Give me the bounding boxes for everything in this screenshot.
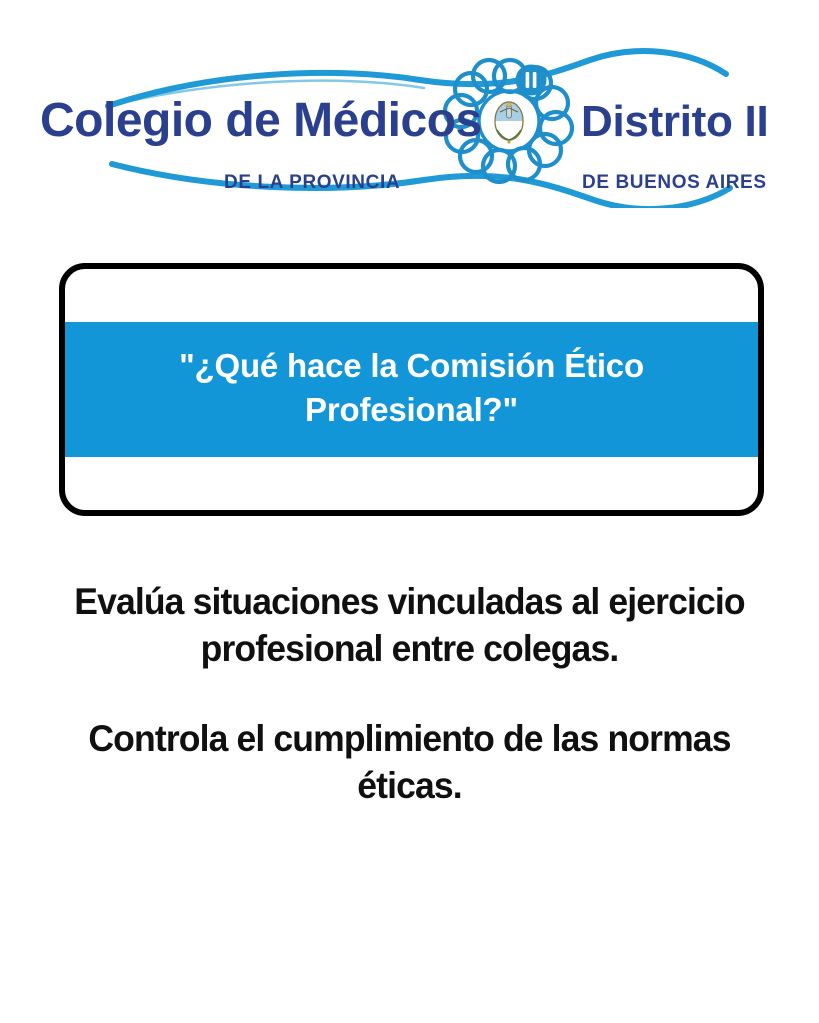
logo-header: Colegio de Médicos Distrito II DE LA PRO… — [0, 38, 819, 208]
body-paragraph-1: Evalúa situaciones vinculadas al ejercic… — [64, 578, 754, 673]
question-card: "¿Qué hace la Comisión Ético Profesional… — [59, 263, 764, 516]
logo-subtitle-right: DE BUENOS AIRES — [582, 172, 767, 193]
body-paragraph-2: Controla el cumplimiento de las normas é… — [64, 715, 754, 810]
logo-subtitle-left: DE LA PROVINCIA — [224, 172, 400, 193]
logo-graphic: Colegio de Médicos Distrito II DE LA PRO… — [0, 38, 819, 208]
body-copy: Evalúa situaciones vinculadas al ejercic… — [50, 578, 769, 809]
logo-title-left: Colegio de Médicos — [40, 94, 482, 147]
emblem-badge-ii — [516, 65, 547, 96]
question-band: "¿Qué hace la Comisión Ético Profesional… — [65, 322, 758, 457]
logo-title-right: Distrito II — [581, 97, 768, 146]
coat-of-arms-icon — [495, 102, 523, 144]
question-title: "¿Qué hace la Comisión Ético Profesional… — [93, 344, 730, 431]
